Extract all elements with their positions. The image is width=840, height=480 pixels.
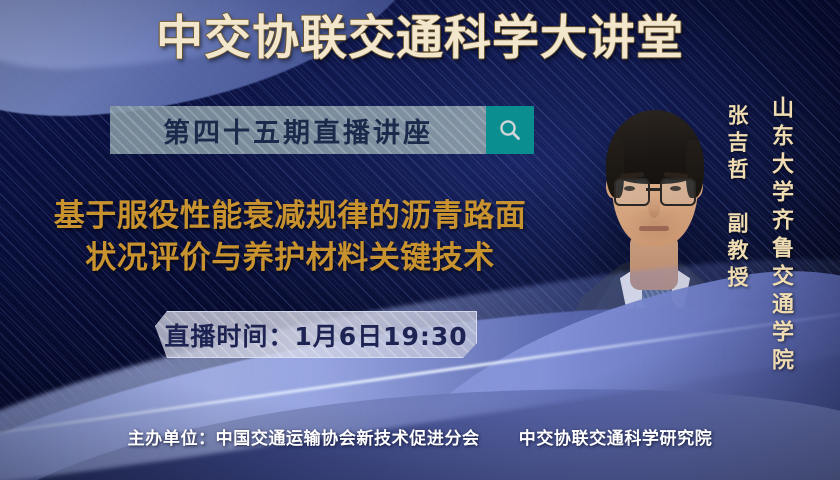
page-title: 中交协联交通科学大讲堂 — [0, 14, 840, 65]
broadcast-time-label: 直播时间：1月6日19:30 — [164, 317, 467, 353]
lecture-title: 基于服役性能衰减规律的沥青路面 状况评价与养护材料关键技术 — [14, 196, 566, 279]
session-bar-background: 第四十五期直播讲座 — [110, 106, 486, 154]
speaker-organization: 山东大学齐鲁交通学院 — [764, 96, 796, 376]
search-button[interactable] — [486, 106, 534, 154]
poster-canvas: 中交协联交通科学大讲堂 第四十五期直播讲座 基于服役性能衰减规律的沥青路面 状况… — [0, 0, 840, 480]
lecture-title-line1: 基于服役性能衰减规律的沥青路面 — [54, 198, 527, 234]
session-label: 第四十五期直播讲座 — [163, 111, 433, 150]
search-icon — [497, 117, 523, 143]
footer-organizer-primary: 主办单位：中国交通运输协会新技术促进分会 — [128, 429, 480, 449]
session-bar[interactable]: 第四十五期直播讲座 — [110, 106, 534, 154]
lecture-title-line2: 状况评价与养护材料关键技术 — [14, 238, 566, 280]
footer-organizers: 主办单位：中国交通运输协会新技术促进分会 中交协联交通科学研究院 — [0, 424, 840, 449]
footer-organizer-secondary: 中交协联交通科学研究院 — [519, 429, 713, 449]
speaker-name-title: 张吉哲 副教授 — [722, 104, 752, 293]
broadcast-time-badge: 直播时间：1月6日19:30 — [155, 311, 477, 358]
